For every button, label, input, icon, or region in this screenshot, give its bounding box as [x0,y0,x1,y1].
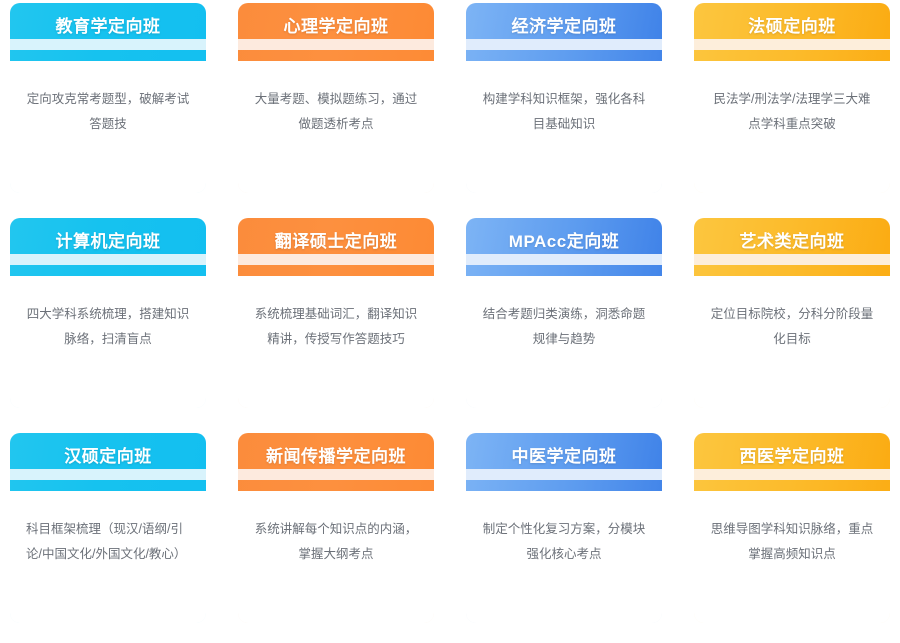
card-title: 中医学定向班 [466,433,662,467]
card-header: 教育学定向班 [10,3,206,61]
card-body: 思维导图学科知识脉络，重点掌握高频知识点 [694,491,890,623]
card-body: 系统讲解每个知识点的内涵，掌握大纲考点 [238,491,434,623]
card-body: 大量考题、模拟题练习，通过做题透析考点 [238,61,434,193]
card-header: 翻译硕士定向班 [238,218,434,276]
card-body: 民法学/刑法学/法理学三大难点学科重点突破 [694,61,890,193]
card-title: 法硕定向班 [694,3,890,37]
course-card-艺术类定向班[interactable]: 艺术类定向班定位目标院校，分科分阶段量化目标 [694,218,890,408]
card-description: 构建学科知识框架，强化各科目基础知识 [482,87,646,137]
card-description: 定位目标院校，分科分阶段量化目标 [710,302,874,352]
card-header: 法硕定向班 [694,3,890,61]
course-card-mpacc定向班[interactable]: MPAcc定向班结合考题归类演练，洞悉命题规律与趋势 [466,218,662,408]
course-card-心理学定向班[interactable]: 心理学定向班大量考题、模拟题练习，通过做题透析考点 [238,3,434,193]
course-card-经济学定向班[interactable]: 经济学定向班构建学科知识框架，强化各科目基础知识 [466,3,662,193]
card-description: 系统梳理基础词汇，翻译知识精讲，传授写作答题技巧 [254,302,418,352]
course-card-教育学定向班[interactable]: 教育学定向班定向攻克常考题型，破解考试答题技 [10,3,206,193]
card-body: 定向攻克常考题型，破解考试答题技 [10,61,206,193]
card-header: 计算机定向班 [10,218,206,276]
card-description: 系统讲解每个知识点的内涵，掌握大纲考点 [254,517,418,567]
card-description: 定向攻克常考题型，破解考试答题技 [26,87,190,137]
card-body: 系统梳理基础词汇，翻译知识精讲，传授写作答题技巧 [238,276,434,408]
course-card-中医学定向班[interactable]: 中医学定向班制定个性化复习方案，分模块强化核心考点 [466,433,662,623]
card-description: 四大学科系统梳理，搭建知识脉络，扫清盲点 [26,302,190,352]
card-title: MPAcc定向班 [466,218,662,252]
card-description: 思维导图学科知识脉络，重点掌握高频知识点 [710,517,874,567]
card-title: 计算机定向班 [10,218,206,252]
card-title: 艺术类定向班 [694,218,890,252]
card-title: 新闻传播学定向班 [238,433,434,467]
course-card-计算机定向班[interactable]: 计算机定向班四大学科系统梳理，搭建知识脉络，扫清盲点 [10,218,206,408]
card-body: 构建学科知识框架，强化各科目基础知识 [466,61,662,193]
card-body: 科目框架梳理（现汉/语纲/引论/中国文化/外国文化/教心） [10,491,206,623]
card-title: 汉硕定向班 [10,433,206,467]
card-body: 结合考题归类演练，洞悉命题规律与趋势 [466,276,662,408]
card-header: 中医学定向班 [466,433,662,491]
course-card-grid: 教育学定向班定向攻克常考题型，破解考试答题技心理学定向班大量考题、模拟题练习，通… [0,0,900,623]
card-header: 心理学定向班 [238,3,434,61]
card-description: 结合考题归类演练，洞悉命题规律与趋势 [482,302,646,352]
course-card-法硕定向班[interactable]: 法硕定向班民法学/刑法学/法理学三大难点学科重点突破 [694,3,890,193]
card-header: 新闻传播学定向班 [238,433,434,491]
card-title: 心理学定向班 [238,3,434,37]
card-title: 西医学定向班 [694,433,890,467]
card-body: 定位目标院校，分科分阶段量化目标 [694,276,890,408]
card-title: 翻译硕士定向班 [238,218,434,252]
card-header: 汉硕定向班 [10,433,206,491]
course-card-西医学定向班[interactable]: 西医学定向班思维导图学科知识脉络，重点掌握高频知识点 [694,433,890,623]
card-title: 教育学定向班 [10,3,206,37]
card-description: 民法学/刑法学/法理学三大难点学科重点突破 [710,87,874,137]
card-body: 制定个性化复习方案，分模块强化核心考点 [466,491,662,623]
card-header: MPAcc定向班 [466,218,662,276]
card-header: 西医学定向班 [694,433,890,491]
card-description: 科目框架梳理（现汉/语纲/引论/中国文化/外国文化/教心） [26,517,190,567]
card-body: 四大学科系统梳理，搭建知识脉络，扫清盲点 [10,276,206,408]
card-header: 经济学定向班 [466,3,662,61]
course-card-汉硕定向班[interactable]: 汉硕定向班科目框架梳理（现汉/语纲/引论/中国文化/外国文化/教心） [10,433,206,623]
card-description: 大量考题、模拟题练习，通过做题透析考点 [254,87,418,137]
course-card-新闻传播学定向班[interactable]: 新闻传播学定向班系统讲解每个知识点的内涵，掌握大纲考点 [238,433,434,623]
card-description: 制定个性化复习方案，分模块强化核心考点 [482,517,646,567]
card-title: 经济学定向班 [466,3,662,37]
course-card-翻译硕士定向班[interactable]: 翻译硕士定向班系统梳理基础词汇，翻译知识精讲，传授写作答题技巧 [238,218,434,408]
card-header: 艺术类定向班 [694,218,890,276]
